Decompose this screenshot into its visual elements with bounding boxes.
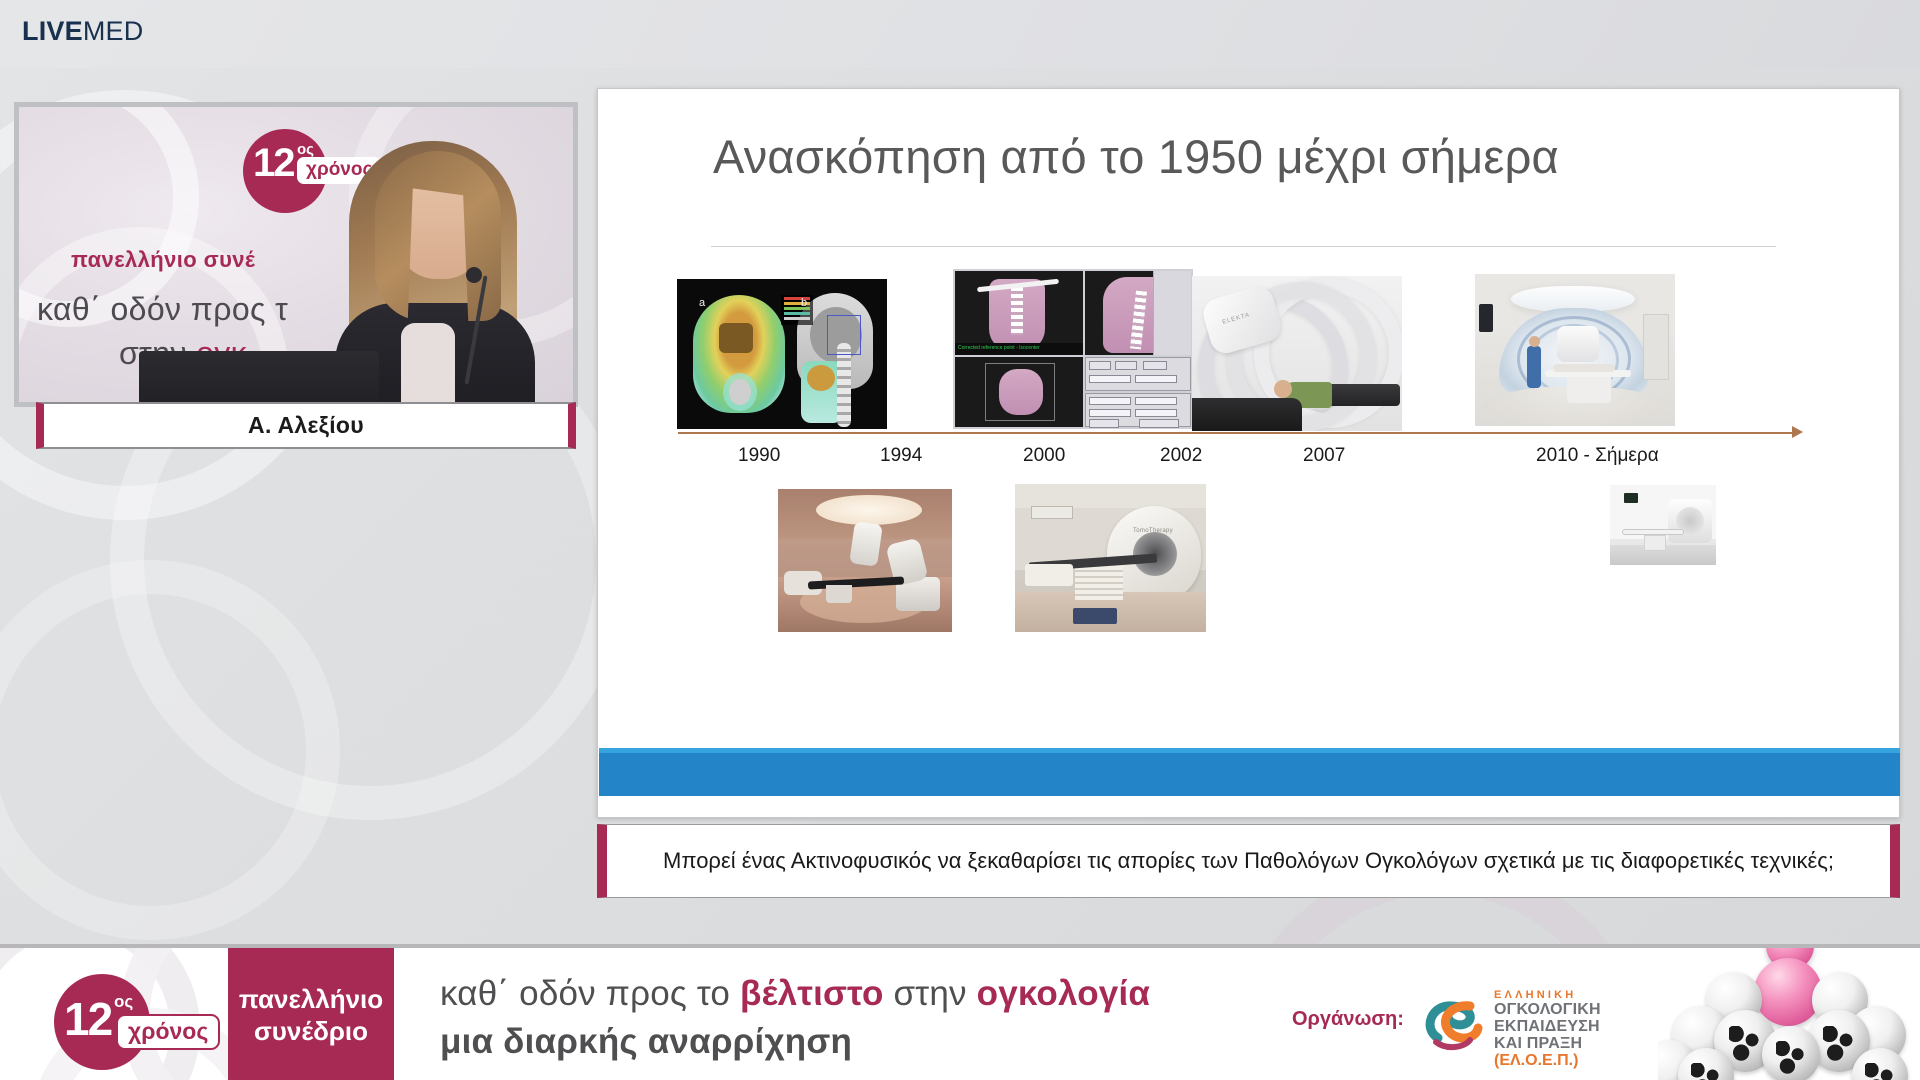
dose-legend bbox=[781, 295, 813, 325]
speaker-name-bar: Α. Αλεξίου bbox=[36, 402, 576, 449]
organizer-line-3: ΚΑΙ ΠΡΑΞΗ bbox=[1494, 1036, 1601, 1053]
logo-ordinal: ος bbox=[114, 992, 133, 1012]
couch-base bbox=[1567, 377, 1611, 403]
footer-bar: 12 ος χρόνος πανελλήνιο συνέδριο καθ΄ οδ… bbox=[0, 944, 1920, 1080]
technician-body bbox=[1527, 346, 1541, 388]
top-bar: LIVEMED bbox=[0, 0, 1920, 68]
organizer-line-1: ΟΓΚΟΛΟΓΙΚΗ bbox=[1494, 1002, 1601, 1019]
registration-status-text: Corrected reference point - Isocenter bbox=[955, 343, 1083, 355]
conference-name-line2: συνέδριο bbox=[254, 1016, 368, 1048]
roi-box bbox=[827, 315, 861, 355]
logo-chronos-badge: χρόνος bbox=[116, 1014, 220, 1050]
slide-container[interactable]: Ανασκόπηση από το 1950 μέχρι σήμερα a b bbox=[597, 88, 1900, 818]
beam-nozzle bbox=[1557, 326, 1599, 362]
organizer-line-4: (ΕΛ.Ο.Ε.Π.) bbox=[1494, 1053, 1601, 1070]
rotation-x-field[interactable] bbox=[1135, 375, 1177, 383]
organizer-line-2: ΕΚΠΑΙΔΕΥΣΗ bbox=[1494, 1019, 1601, 1036]
rotation-z-field[interactable] bbox=[1135, 409, 1177, 417]
logo-number: 12 bbox=[64, 992, 111, 1046]
translation-y-field[interactable] bbox=[1089, 397, 1131, 405]
couch-column bbox=[1075, 566, 1123, 600]
caption-text: Μπορεί ένας Ακτινοφυσικός να ξεκαθαρίσει… bbox=[663, 846, 1834, 876]
control-window bbox=[1643, 314, 1669, 380]
speaker-shirt bbox=[401, 323, 455, 407]
livemed-logo[interactable]: LIVEMED bbox=[22, 16, 143, 47]
tagline-line2: μια διαρκής αναρρίχηση bbox=[440, 1022, 1180, 1062]
couch-base bbox=[1644, 535, 1666, 551]
timeline-year-2010-present: 2010 - Σήμερα bbox=[1536, 445, 1659, 467]
image-elekta-linear-accelerator: ELEKTA bbox=[1192, 276, 1402, 431]
backdrop-subtitle: πανελλήνιο συνέ bbox=[71, 247, 255, 273]
image-cyberknife-system bbox=[778, 489, 952, 632]
patient-head bbox=[1274, 380, 1292, 398]
brand-live-text: LIVE bbox=[22, 16, 83, 46]
apply-button[interactable] bbox=[1089, 419, 1119, 428]
decorative-spheres-image bbox=[1658, 948, 1920, 1080]
panel-label-a: a bbox=[699, 297, 705, 309]
couch-base bbox=[826, 585, 852, 603]
wall-display bbox=[1624, 493, 1638, 503]
tomotherapy-canvas: TomoTherapy bbox=[1015, 484, 1206, 632]
timeline-year-1990: 1990 bbox=[738, 445, 780, 467]
cervical-spine bbox=[837, 343, 851, 427]
tagline-highlight-veltisto: βέλτιστο bbox=[740, 974, 884, 1013]
backdrop-tagline-line1: καθ΄ οδόν προς τ bbox=[37, 291, 288, 328]
speaker-video-panel[interactable]: 12 ος χρόνος πανελλήνιο συνέ καθ΄ οδόν π… bbox=[14, 102, 578, 457]
timeline-arrow-icon bbox=[1792, 426, 1803, 438]
translation-x-field[interactable] bbox=[1089, 375, 1131, 383]
tagline-line1: καθ΄ οδόν προς το βέλτιστο στην ογκολογί… bbox=[440, 974, 1180, 1014]
conference-tagline: καθ΄ οδόν προς το βέλτιστο στην ογκολογί… bbox=[440, 974, 1180, 1062]
linac-canvas: ELEKTA bbox=[1192, 276, 1402, 431]
sphere-dotted bbox=[1762, 1026, 1820, 1080]
wall-vent bbox=[1031, 506, 1073, 519]
proton-room-canvas bbox=[1475, 274, 1675, 426]
image-dose-colorwash-head-neck: a b bbox=[677, 279, 887, 429]
microphone-icon bbox=[466, 267, 482, 283]
conference-name-line1: πανελλήνιο bbox=[239, 984, 383, 1016]
speaker-video-frame[interactable]: 12 ος χρόνος πανελλήνιο συνέ καθ΄ οδόν π… bbox=[14, 102, 578, 407]
slide-accent-bar bbox=[599, 748, 1900, 796]
speaker-name: Α. Αλεξίου bbox=[248, 412, 364, 439]
couch-head-end bbox=[1025, 564, 1073, 586]
dose-colorwash-canvas: a b bbox=[677, 279, 887, 429]
translation-z-field[interactable] bbox=[1089, 409, 1131, 417]
timeline-year-1994: 1994 bbox=[880, 445, 922, 467]
patient bbox=[1553, 364, 1615, 372]
cyberknife-canvas bbox=[778, 489, 952, 632]
sagittal-target-volume bbox=[807, 365, 835, 391]
coronal-spine bbox=[1011, 287, 1023, 335]
spinal-cord bbox=[729, 379, 751, 405]
reference-button[interactable] bbox=[1089, 361, 1111, 370]
backdrop-logo-ordinal: ος bbox=[297, 141, 314, 158]
organizer-name: ΕΛΛΗΝΙΚΗ ΟΓΚΟΛΟΓΙΚΗ ΕΚΠΑΙΔΕΥΣΗ ΚΑΙ ΠΡΑΞΗ… bbox=[1494, 990, 1601, 1069]
image-proton-therapy-room bbox=[1475, 274, 1675, 426]
panel-label-b: b bbox=[801, 297, 807, 309]
floor-pad bbox=[1073, 608, 1117, 624]
organizer-label: Οργάνωση: bbox=[1292, 1008, 1404, 1031]
protocol-button[interactable] bbox=[1143, 361, 1167, 370]
image-mr-linac-room bbox=[1610, 485, 1716, 565]
ceiling-light-ring bbox=[816, 495, 922, 525]
background-arc-decoration bbox=[0, 560, 340, 940]
technician-head bbox=[1529, 336, 1540, 347]
podium bbox=[139, 351, 379, 407]
timeline-year-2007: 2007 bbox=[1303, 445, 1345, 467]
image-tools-sidebar[interactable] bbox=[1153, 271, 1191, 355]
tagline-highlight-ogkologia: ογκολογία bbox=[977, 974, 1151, 1013]
organizer-line-0: ΕΛΛΗΝΙΚΗ bbox=[1494, 990, 1601, 1002]
slide-title: Ανασκόπηση από το 1950 μέχρι σήμερα bbox=[713, 129, 1559, 184]
wall-monitor bbox=[1479, 304, 1493, 332]
conference-name-block: πανελλήνιο συνέδριο bbox=[228, 948, 394, 1080]
image-registration-software: Corrected reference point - Isocenter bbox=[953, 269, 1193, 429]
linac-base bbox=[1192, 398, 1302, 431]
compact-linac-head bbox=[849, 521, 883, 566]
timeline-axis bbox=[678, 432, 1794, 434]
axial-view bbox=[955, 357, 1083, 427]
room-ceiling bbox=[1015, 484, 1206, 508]
axial-anatomy bbox=[999, 369, 1043, 415]
auto-registration-button[interactable] bbox=[1139, 419, 1179, 428]
video-backdrop: 12 ος χρόνος πανελλήνιο συνέ καθ΄ οδόν π… bbox=[19, 107, 573, 402]
target-volume bbox=[719, 323, 753, 353]
image-tomotherapy-unit: TomoTherapy bbox=[1015, 484, 1206, 632]
backdrop-logo-number: 12 bbox=[253, 141, 294, 186]
eloep-logo-icon bbox=[1418, 994, 1490, 1058]
caption-bar: Μπορεί ένας Ακτινοφυσικός να ξεκαθαρίσει… bbox=[597, 824, 1900, 898]
title-divider bbox=[711, 246, 1776, 247]
brand-med-text: MED bbox=[83, 16, 144, 46]
timeline-year-2002: 2002 bbox=[1160, 445, 1202, 467]
acquire-button[interactable] bbox=[1115, 361, 1137, 370]
tomotherapy-brand-label: TomoTherapy bbox=[1133, 528, 1173, 534]
tagline-part-a: καθ΄ οδόν προς το bbox=[440, 974, 740, 1013]
mr-linac-canvas bbox=[1610, 485, 1716, 565]
registration-ui-canvas: Corrected reference point - Isocenter bbox=[953, 269, 1193, 429]
tagline-part-c: στην bbox=[884, 974, 977, 1013]
timeline-year-2000: 2000 bbox=[1023, 445, 1065, 467]
rotation-y-field[interactable] bbox=[1135, 397, 1177, 405]
backdrop-tagline-part: καθ΄ οδόν προς τ bbox=[37, 291, 288, 327]
